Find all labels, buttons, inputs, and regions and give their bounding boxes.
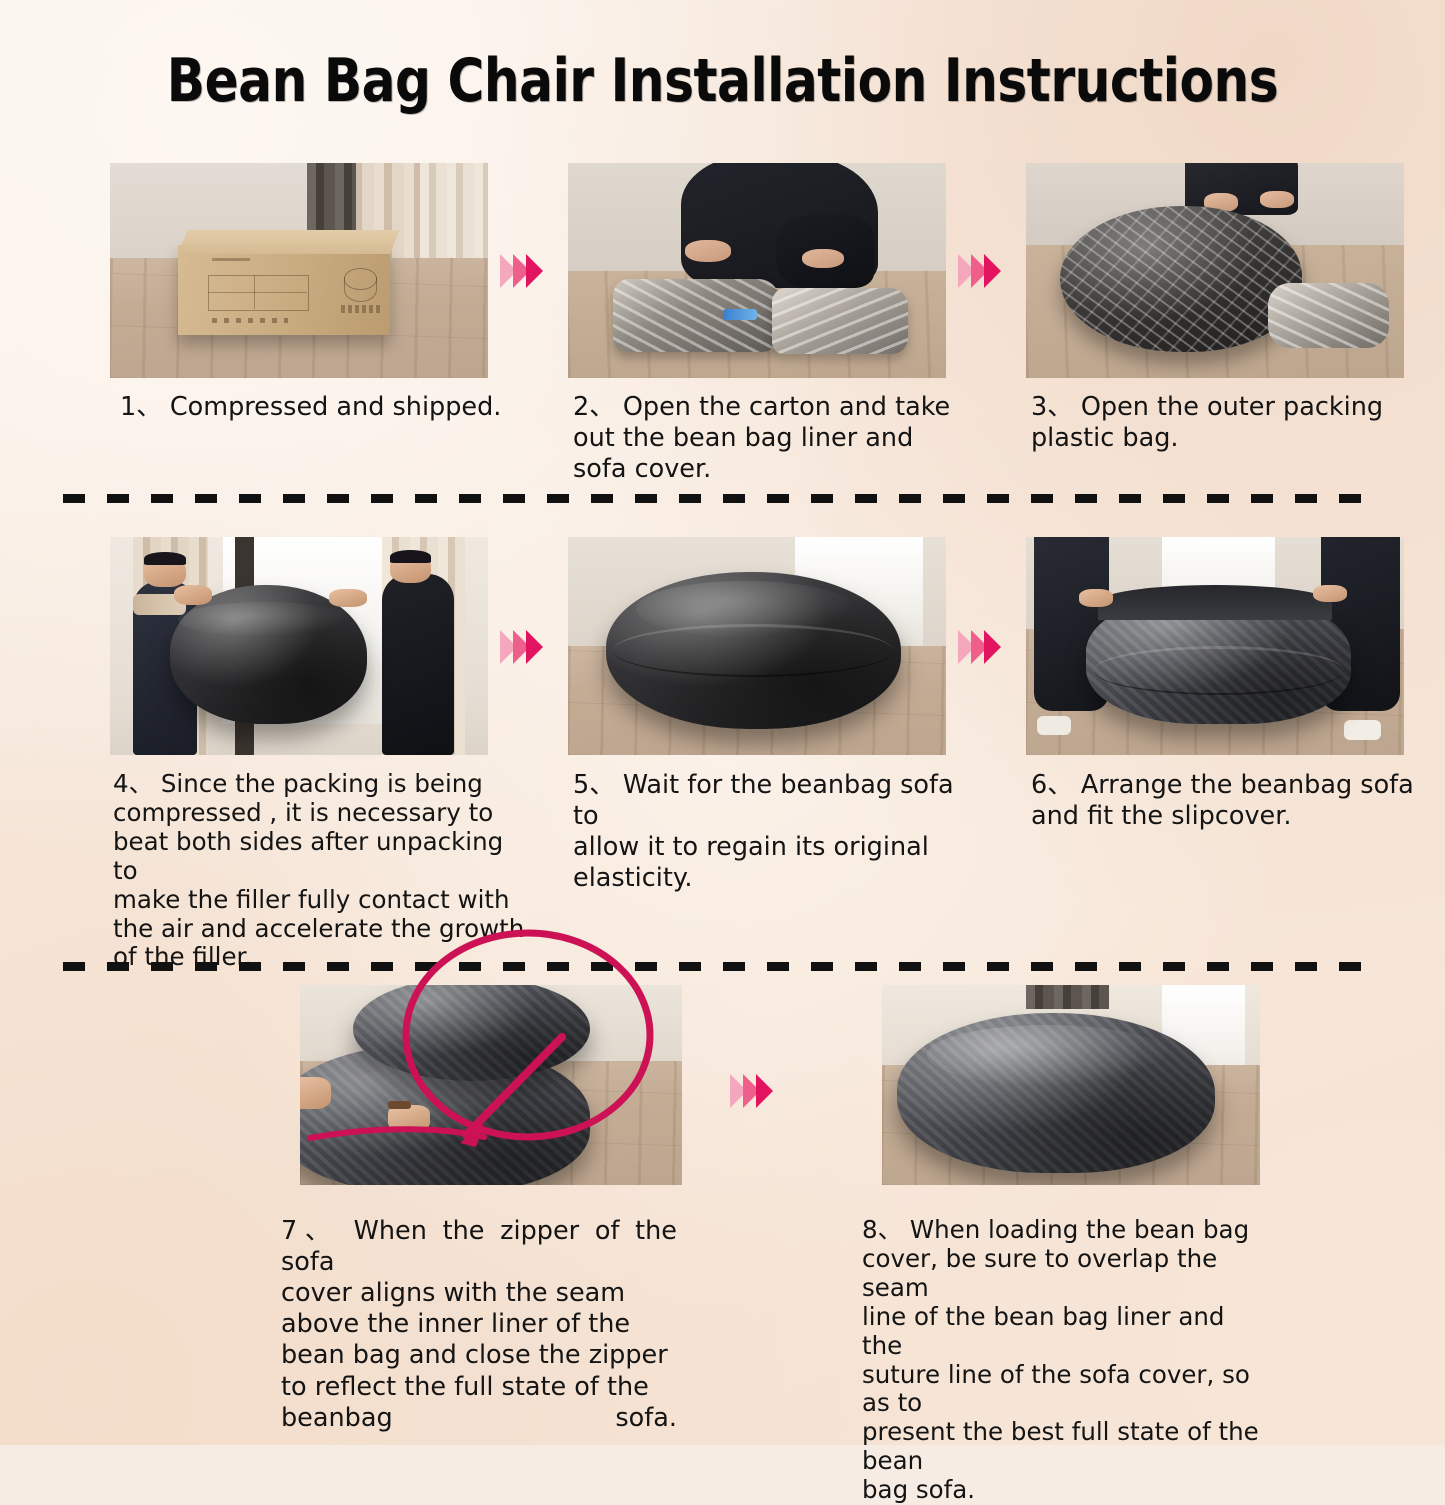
step-1-photo	[110, 163, 488, 378]
arrow-step-2-to-3	[958, 254, 997, 288]
page-title: Bean Bag Chair Installation Instructions	[51, 46, 1395, 116]
chevron-right-icon	[526, 254, 543, 288]
step-3-photo	[1026, 163, 1404, 378]
section-divider-1	[63, 494, 1383, 503]
step-6-photo	[1026, 537, 1404, 755]
arrow-step-1-to-2	[500, 254, 539, 288]
step-3-caption: 3、 Open the outer packing plastic bag.	[1031, 392, 1431, 454]
step-4-photo	[110, 537, 488, 755]
step-6-caption: 6、 Arrange the beanbag sofa and fit the …	[1031, 770, 1441, 832]
arrow-step-7-to-8	[730, 1074, 769, 1108]
step-8-caption: 8、 When loading the bean bag cover, be s…	[862, 1216, 1262, 1505]
infographic-page: Bean Bag Chair Installation Instructions	[0, 0, 1445, 1445]
section-divider-2	[63, 962, 1383, 971]
step-4-caption: 4、 Since the packing is being compressed…	[113, 770, 533, 972]
arrow-step-5-to-6	[958, 630, 997, 664]
step-2-photo	[568, 163, 946, 378]
step-7-caption: 7、 When the zipper of the sofa cover ali…	[281, 1216, 677, 1465]
chevron-right-icon	[984, 630, 1001, 664]
chevron-right-icon	[756, 1074, 773, 1108]
arrow-step-4-to-5	[500, 630, 539, 664]
chevron-right-icon	[526, 630, 543, 664]
step-5-photo	[568, 537, 946, 755]
step-5-caption: 5、 Wait for the beanbag sofa to allow it…	[573, 770, 983, 894]
chevron-right-icon	[984, 254, 1001, 288]
step-2-caption: 2、 Open the carton and take out the bean…	[573, 392, 973, 485]
step-8-photo	[882, 985, 1260, 1185]
step-7-photo	[300, 985, 682, 1185]
step-1-caption: 1、 Compressed and shipped.	[120, 392, 550, 423]
